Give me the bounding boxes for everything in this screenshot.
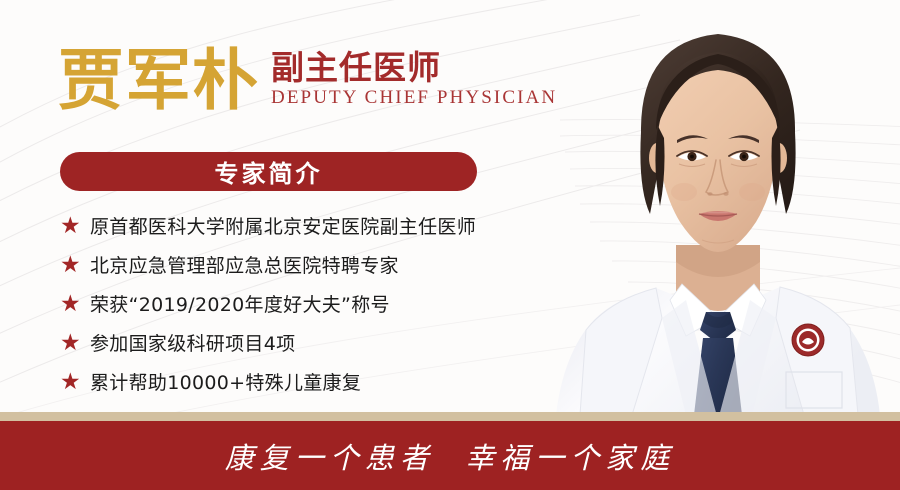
profile-content: 贾军朴 副主任医师 DEPUTY CHIEF PHYSICIAN 专家简介 ★ … [0, 0, 560, 415]
doctor-title-en: DEPUTY CHIEF PHYSICIAN [271, 87, 557, 110]
star-icon: ★ [60, 370, 90, 393]
credential-text: 参加国家级科研项目4项 [90, 329, 295, 356]
list-item: ★ 累计帮助10000+特殊儿童康复 [60, 362, 560, 401]
section-banner: 专家简介 [60, 152, 477, 191]
star-icon: ★ [60, 253, 90, 276]
credential-text: 原首都医科大学附属北京安定医院副主任医师 [90, 212, 476, 239]
doctor-profile-card: 贾军朴 副主任医师 DEPUTY CHIEF PHYSICIAN 专家简介 ★ … [0, 0, 900, 490]
list-item: ★ 原首都医科大学附属北京安定医院副主任医师 [60, 206, 560, 245]
star-icon: ★ [60, 214, 90, 237]
footer-slogan: 康复一个患者 幸福一个家庭 [225, 435, 675, 477]
star-icon: ★ [60, 331, 90, 354]
doctor-portrait [536, 0, 900, 415]
credentials-list: ★ 原首都医科大学附属北京安定医院副主任医师 ★ 北京应急管理部应急总医院特聘专… [60, 206, 560, 401]
star-icon: ★ [60, 292, 90, 315]
doctor-title-cn: 副主任医师 [271, 51, 557, 86]
credential-text: 累计帮助10000+特殊儿童康复 [90, 368, 361, 395]
doctor-name: 贾军朴 [58, 48, 259, 114]
section-banner-label: 专家简介 [215, 154, 323, 189]
credential-text: 北京应急管理部应急总医院特聘专家 [90, 251, 399, 278]
footer-banner: 康复一个患者 幸福一个家庭 [0, 421, 900, 490]
credential-text: 荣获“2019/2020年度好大夫”称号 [90, 290, 390, 317]
title-block: 副主任医师 DEPUTY CHIEF PHYSICIAN [271, 51, 557, 114]
list-item: ★ 北京应急管理部应急总医院特聘专家 [60, 245, 560, 284]
list-item: ★ 荣获“2019/2020年度好大夫”称号 [60, 284, 560, 323]
name-and-title: 贾军朴 副主任医师 DEPUTY CHIEF PHYSICIAN [58, 48, 557, 114]
accent-stripe [0, 412, 900, 421]
hospital-emblem-badge [791, 323, 825, 357]
list-item: ★ 参加国家级科研项目4项 [60, 323, 560, 362]
